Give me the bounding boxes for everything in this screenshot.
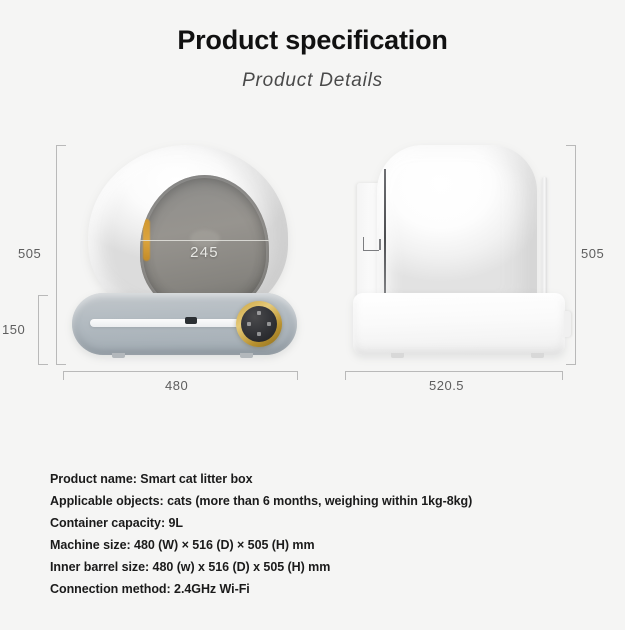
spec-item-inner-barrel-size: Inner barrel size: 480 (w) x 516 (D) x 5… [50,556,472,578]
front-base-height-label: 150 [2,322,25,337]
front-width-label: 480 [165,378,188,393]
side-foot-left [391,353,404,358]
side-total-height-dimension-line [566,145,576,365]
front-total-height-label: 505 [18,246,41,261]
page-header: Product specification Product Details [0,0,625,92]
dial-up-glyph-icon [257,311,261,315]
side-seam-line [384,169,386,307]
dial-down-glyph-icon [257,332,261,336]
front-view-illustration: 245 [72,145,297,365]
sensor-icon [185,317,197,324]
spec-item-applicable-objects: Applicable objects: cats (more than 6 mo… [50,490,472,512]
front-total-height-dimension-line [56,145,66,365]
side-depth-label: 520.5 [429,378,464,393]
base-foot-right [240,353,253,358]
control-dial-button[interactable] [236,301,282,347]
side-foot-right [531,353,544,358]
opening-horizon-line [140,240,269,241]
spec-item-connection-method: Connection method: 2.4GHz Wi-Fi [50,578,472,600]
side-base-tray [353,293,565,355]
page-subtitle: Product Details [0,70,625,92]
front-base-height-dimension-line [38,295,48,365]
side-view-illustration [345,145,575,365]
spec-item-machine-size: Machine size: 480 (W) × 516 (D) × 505 (H… [50,534,472,556]
side-total-height-label: 505 [581,246,604,261]
dial-right-glyph-icon [267,322,271,326]
base-drawer-slot [90,319,245,327]
litter-box-base [72,293,297,355]
dial-face [241,306,277,342]
side-rail [542,177,547,305]
page-title: Product specification [0,26,625,56]
side-handle-notch-icon [363,237,379,251]
product-diagram: 505 150 480 245 [0,120,625,410]
spec-item-container-capacity: Container capacity: 9L [50,512,472,534]
base-foot-left [112,353,125,358]
dial-left-glyph-icon [247,322,251,326]
opening-depth-number: 245 [140,244,269,261]
spec-item-product-name: Product name: Smart cat litter box [50,468,472,490]
specification-list: Product name: Smart cat litter box Appli… [50,468,472,600]
